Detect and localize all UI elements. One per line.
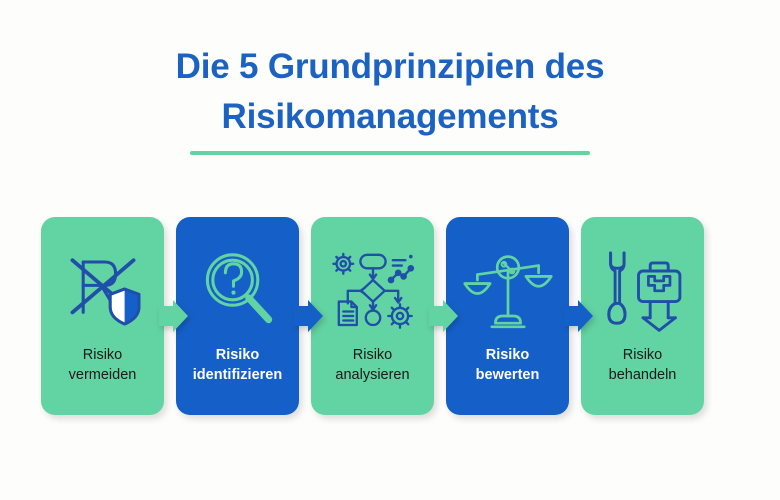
step-label-line-1: Risiko: [623, 347, 662, 363]
step-card-label: Risiko bewerten: [446, 345, 569, 385]
title-underline-rule: [190, 151, 590, 155]
balance-scales-percent-icon: [462, 243, 554, 335]
arrow-connector-3: [429, 298, 459, 334]
flowchart-gears-icon: [327, 243, 419, 335]
step-label-line-2: behandeln: [609, 367, 677, 383]
step-label-line-2: bewerten: [476, 367, 540, 383]
step-card-behandeln[interactable]: Risiko behandeln: [581, 217, 704, 415]
wrench-firstaid-arrow-icon: [597, 243, 689, 335]
process-steps-row: Risiko vermeiden Risiko identifizieren: [41, 217, 741, 415]
page-title-line-1: Die 5 Grundprinzipien des: [0, 42, 780, 92]
step-label-line-1: Risiko: [486, 347, 530, 363]
step-label-line-2: analysieren: [335, 367, 409, 383]
step-card-label: Risiko vermeiden: [41, 345, 164, 385]
step-label-line-1: Risiko: [353, 347, 392, 363]
page-title-line-2: Risikomanagements: [0, 92, 780, 142]
arrow-connector-4: [564, 298, 594, 334]
step-label-line-2: identifizieren: [193, 367, 282, 383]
magnifier-question-icon: [192, 243, 284, 335]
title-block: Die 5 Grundprinzipien des Risikomanageme…: [0, 42, 780, 155]
step-card-label: Risiko behandeln: [581, 345, 704, 385]
step-card-analysieren[interactable]: Risiko analysieren: [311, 217, 434, 415]
arrow-connector-1: [159, 298, 189, 334]
step-label-line-1: Risiko: [83, 347, 122, 363]
crossed-out-risk-shield-icon: [57, 243, 149, 335]
step-card-bewerten[interactable]: Risiko bewerten: [446, 217, 569, 415]
step-card-label: Risiko analysieren: [311, 345, 434, 385]
arrow-connector-2: [294, 298, 324, 334]
step-label-line-1: Risiko: [216, 347, 260, 363]
step-card-label: Risiko identifizieren: [176, 345, 299, 385]
step-label-line-2: vermeiden: [69, 367, 137, 383]
step-card-vermeiden[interactable]: Risiko vermeiden: [41, 217, 164, 415]
step-card-identifizieren[interactable]: Risiko identifizieren: [176, 217, 299, 415]
